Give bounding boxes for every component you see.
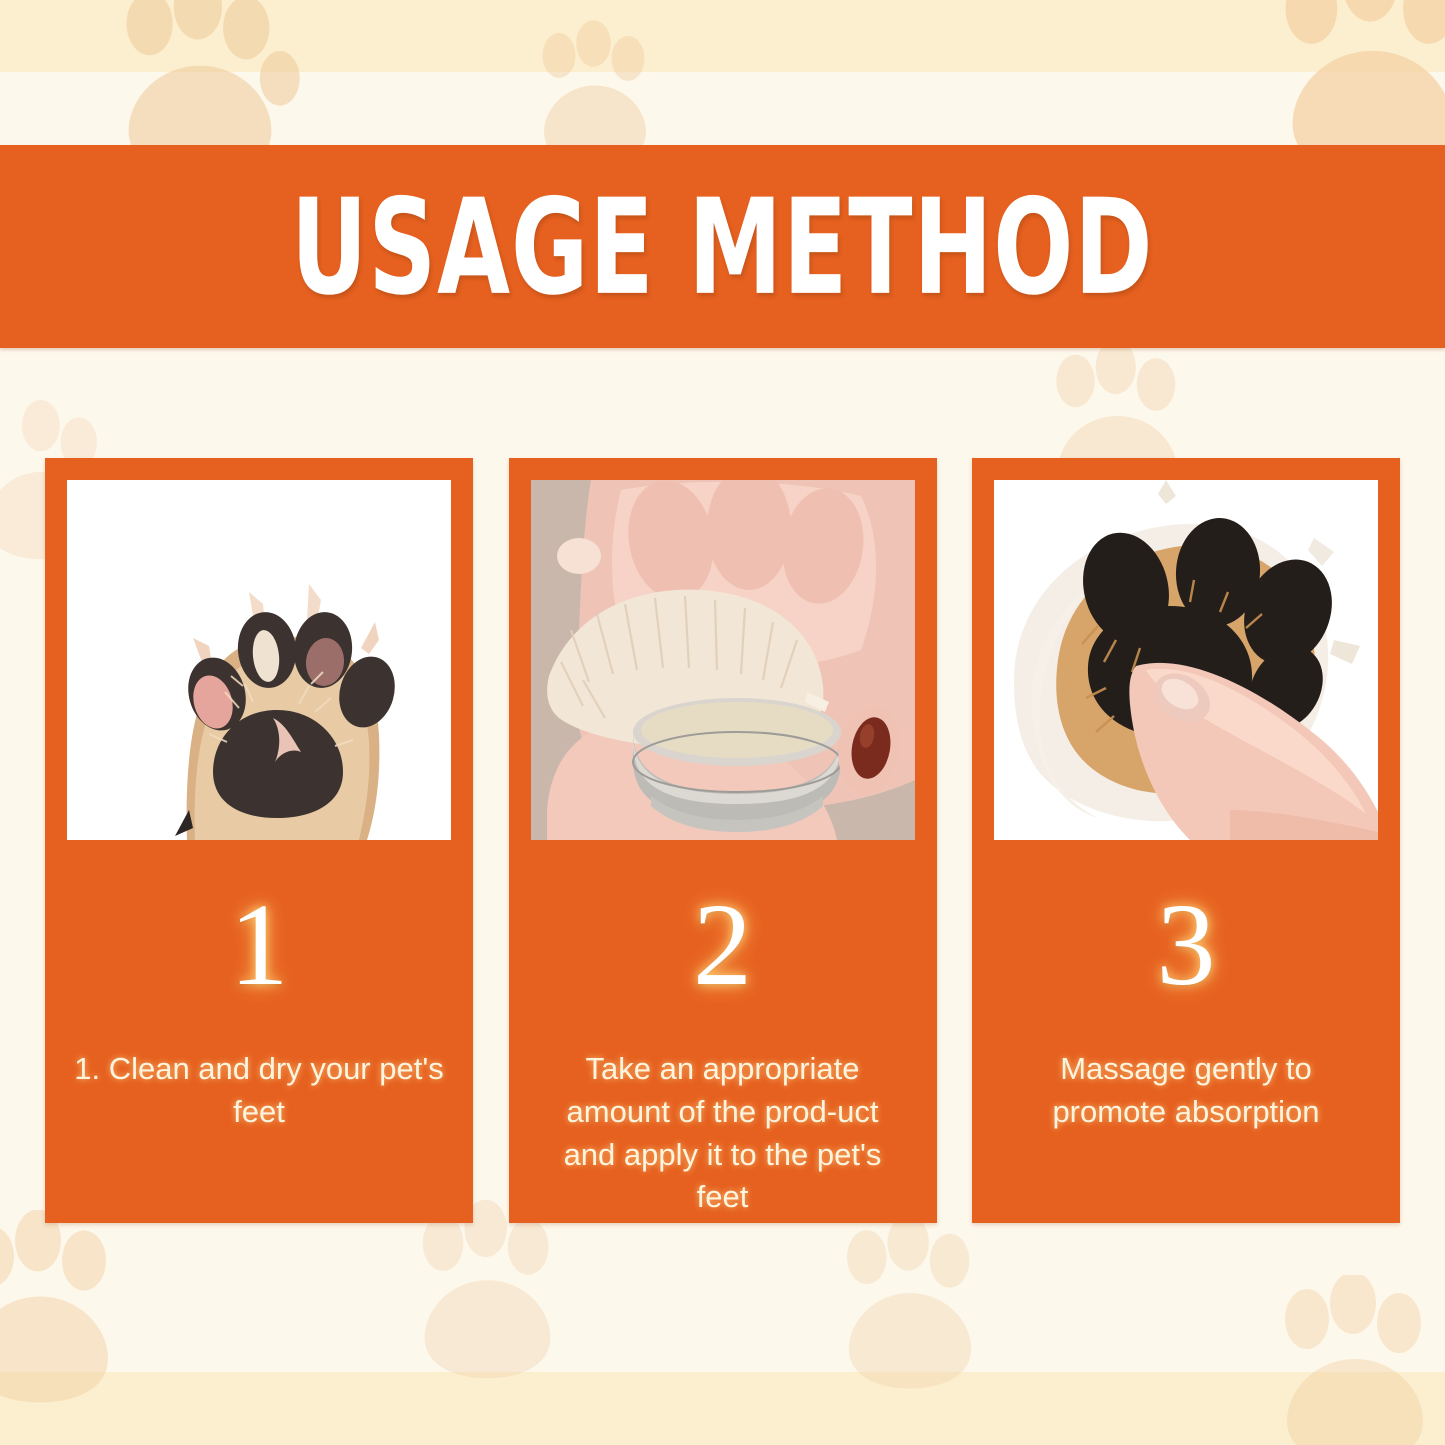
step-card-3: 3 Massage gently to promote absorption [972, 458, 1400, 1223]
step-photo-1 [67, 480, 451, 840]
step-card-2: 2 Take an appropriate amount of the prod… [509, 458, 937, 1223]
step-text-3: Massage gently to promote absorption [1000, 1048, 1372, 1134]
paw-print-icon [395, 1200, 580, 1390]
title-banner: USAGE METHOD [0, 145, 1445, 348]
step-number-3: 3 [1157, 886, 1216, 1004]
background-band-bottom [0, 1372, 1445, 1445]
step-photo-2 [531, 480, 915, 840]
step-photo-3 [994, 480, 1378, 840]
page-title: USAGE METHOD [291, 180, 1154, 312]
step-number-1: 1 [230, 886, 289, 1004]
step-number-2: 2 [693, 886, 752, 1004]
step-card-1: 1 1. Clean and dry your pet's feet [45, 458, 473, 1223]
usage-method-infographic: USAGE METHOD [0, 0, 1445, 1445]
step-text-2: Take an appropriate amount of the prod-u… [537, 1048, 909, 1219]
background-band-top [0, 0, 1445, 72]
steps-container: 1 1. Clean and dry your pet's feet [45, 458, 1400, 1223]
step-text-1: 1. Clean and dry your pet's feet [73, 1048, 445, 1134]
